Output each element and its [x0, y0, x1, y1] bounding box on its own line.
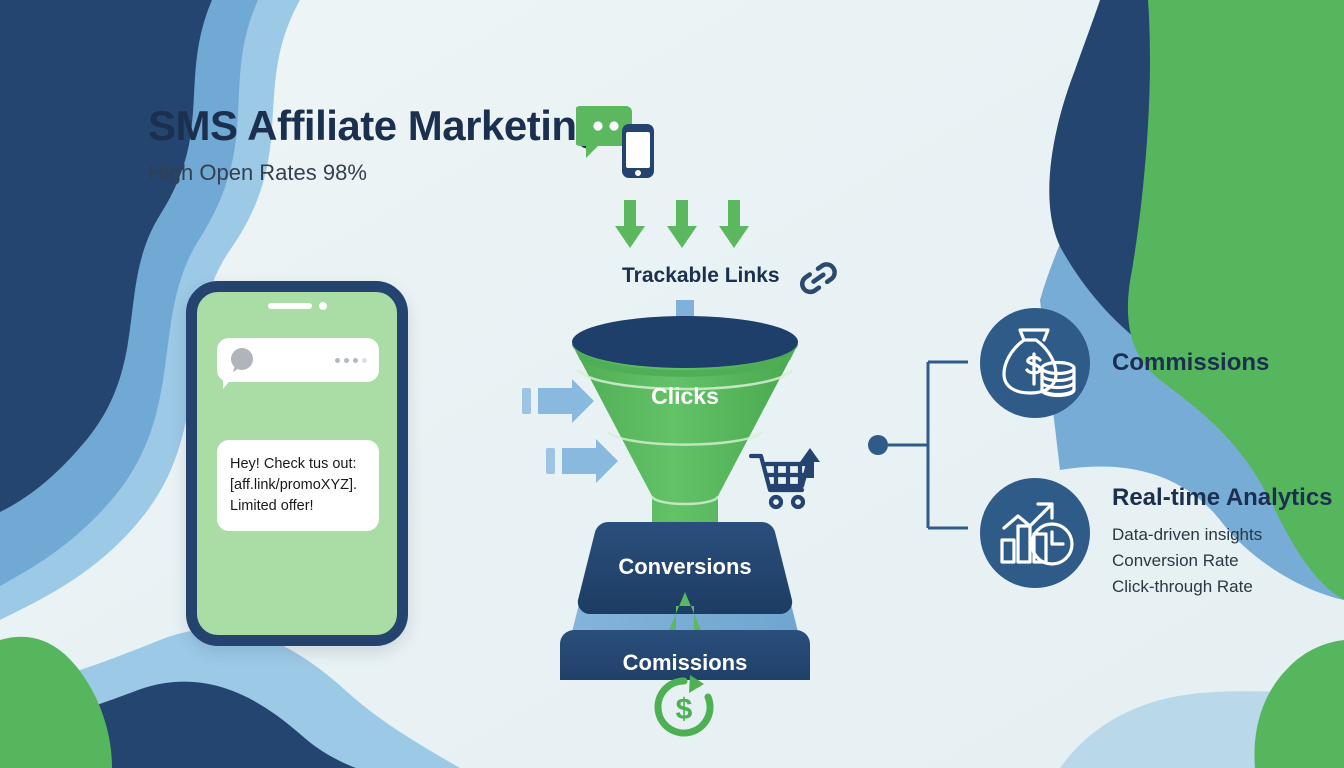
feature-analytics-detail-2: Conversion Rate: [1112, 549, 1333, 573]
connector-lines: [888, 362, 968, 528]
chain-link-icon: [798, 258, 840, 300]
phone-icon-home: [635, 170, 641, 176]
speech-bubble-avatar-icon: [229, 347, 255, 373]
feature-commissions-body: Commissions: [1112, 349, 1269, 378]
feature-analytics-body: Real-time Analytics Data-driven insights…: [1112, 478, 1333, 599]
sms-header-bubble: [217, 338, 379, 382]
shopping-cart-up-icon: [748, 444, 822, 514]
funnel-side-arrow-2: [546, 439, 618, 483]
sms-message-bubble: Hey! Check tus out: [aff.link/promoXYZ].…: [217, 440, 379, 531]
feature-analytics-title: Real-time Analytics: [1112, 484, 1333, 513]
feature-analytics-detail-3: Click-through Rate: [1112, 575, 1333, 599]
sms-phone-icon: [576, 100, 660, 180]
trackable-links-label: Trackable Links: [622, 264, 780, 288]
recurring-dollar-icon: $: [650, 673, 718, 741]
money-bag-coins-icon: [980, 308, 1090, 418]
phone-notch: [254, 299, 340, 312]
bubble-dot-2: [609, 121, 618, 130]
svg-text:$: $: [676, 693, 693, 726]
phone-icon-screen: [626, 132, 650, 168]
bubble-dot-1: [593, 121, 602, 130]
feature-analytics-detail-1: Data-driven insights: [1112, 523, 1333, 547]
bar-chart-clock-icon: [980, 478, 1090, 588]
feature-connector: [866, 340, 986, 560]
infographic-canvas: SMS Affiliate Marketing High Open Rates …: [0, 0, 1344, 768]
conversion-funnel: Clicks Conversions Comissions: [500, 300, 880, 680]
phone-speaker: [268, 303, 312, 309]
feature-commissions-title: Commissions: [1112, 349, 1269, 378]
phone-camera: [319, 302, 327, 310]
conversions-label: Conversions: [618, 554, 751, 579]
feature-commissions[interactable]: Commissions: [980, 308, 1269, 418]
connector-node: [868, 435, 888, 455]
funnel-side-arrow-1: [522, 379, 594, 423]
down-arrow-2: [664, 200, 700, 250]
three-down-arrows-icon: [612, 200, 752, 250]
phone-mockup: Hey! Check tus out: [aff.link/promoXYZ].…: [186, 281, 408, 646]
comissions-label: Comissions: [623, 650, 748, 675]
typing-dots-icon: [335, 358, 367, 363]
funnel-rim: [572, 316, 798, 368]
feature-analytics[interactable]: Real-time Analytics Data-driven insights…: [980, 478, 1333, 599]
down-arrow-3: [716, 200, 752, 250]
sms-header-bubble-tail: [223, 378, 232, 389]
down-arrow-1: [612, 200, 648, 250]
clicks-label: Clicks: [651, 383, 719, 409]
